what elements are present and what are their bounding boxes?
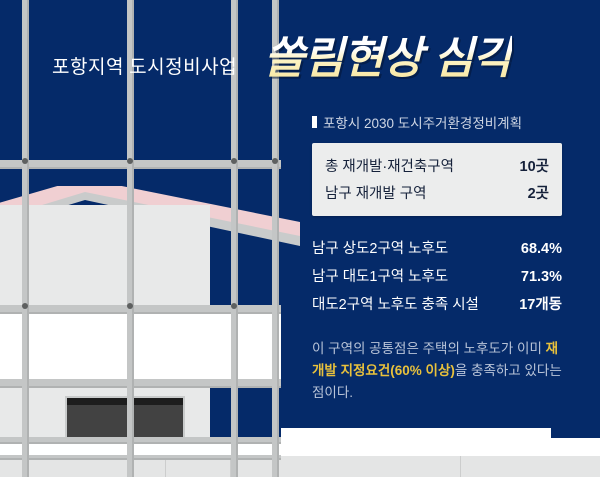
stat-label: 남구 대도1구역 노후도 (312, 265, 448, 286)
stat-value: 71.3% (521, 269, 562, 285)
ground-divider (460, 456, 461, 477)
page-title: 쏠림현상 심각 (264, 22, 512, 86)
footnote-paragraph: 이 구역의 공통점은 주택의 노후도가 이미 재개발 지정요건(60% 이상)을… (312, 338, 562, 404)
scaffold-pole (22, 0, 29, 477)
scaffold-joint (22, 303, 28, 309)
section-title-label: 포항시 2030 도시주거환경정비계획 (323, 112, 522, 132)
window-header-bar (67, 398, 183, 405)
footnote-part-1: 이 구역의 공통점은 주택의 노후도가 이미 (312, 341, 546, 356)
table-row: 총 재개발·재건축구역 10곳 (325, 152, 549, 179)
scaffold-joint (231, 303, 237, 309)
table-row: 남구 재개발 구역 2곳 (325, 179, 549, 206)
list-item: 대도2구역 노후도 충족 시설 17개동 (312, 289, 562, 317)
row-value: 10곳 (520, 155, 549, 176)
kicker-text: 포항지역 도시정비사업 (52, 52, 237, 79)
scaffold-beam (0, 455, 281, 460)
scaffold-joint (231, 158, 237, 164)
scaffold-joint (22, 158, 28, 164)
square-bullet-icon (312, 116, 317, 128)
summary-card: 총 재개발·재건축구역 10곳 남구 재개발 구역 2곳 (312, 143, 562, 216)
stat-label: 대도2구역 노후도 충족 시설 (312, 293, 479, 314)
scaffold-joint (272, 158, 278, 164)
lower-white-panel (281, 428, 551, 438)
section-title: 포항시 2030 도시주거환경정비계획 (312, 112, 562, 132)
row-label: 남구 재개발 구역 (325, 182, 426, 203)
scaffold-beam (0, 379, 281, 388)
list-item: 남구 상도2구역 노후도 68.4% (312, 233, 562, 261)
scaffold-beam (0, 160, 281, 169)
list-item: 남구 대도1구역 노후도 71.3% (312, 261, 562, 289)
stat-value: 68.4% (521, 241, 562, 257)
content-column: 포항시 2030 도시주거환경정비계획 총 재개발·재건축구역 10곳 남구 재… (312, 112, 562, 404)
scaffold-joint (127, 158, 133, 164)
scaffold-beam (0, 437, 281, 444)
stat-value: 17개동 (519, 293, 562, 314)
building-white-band (0, 310, 281, 382)
scaffold-beam (0, 305, 281, 314)
row-value: 2곳 (528, 182, 549, 203)
row-label: 총 재개발·재건축구역 (325, 155, 454, 176)
infographic-canvas: 포항지역 도시정비사업 쏠림현상 심각 포항시 2030 도시주거환경정비계획 … (0, 0, 600, 477)
scaffold-joint (127, 303, 133, 309)
statistics-list: 남구 상도2구역 노후도 68.4% 남구 대도1구역 노후도 71.3% 대도… (312, 233, 562, 317)
stat-label: 남구 상도2구역 노후도 (312, 237, 448, 258)
